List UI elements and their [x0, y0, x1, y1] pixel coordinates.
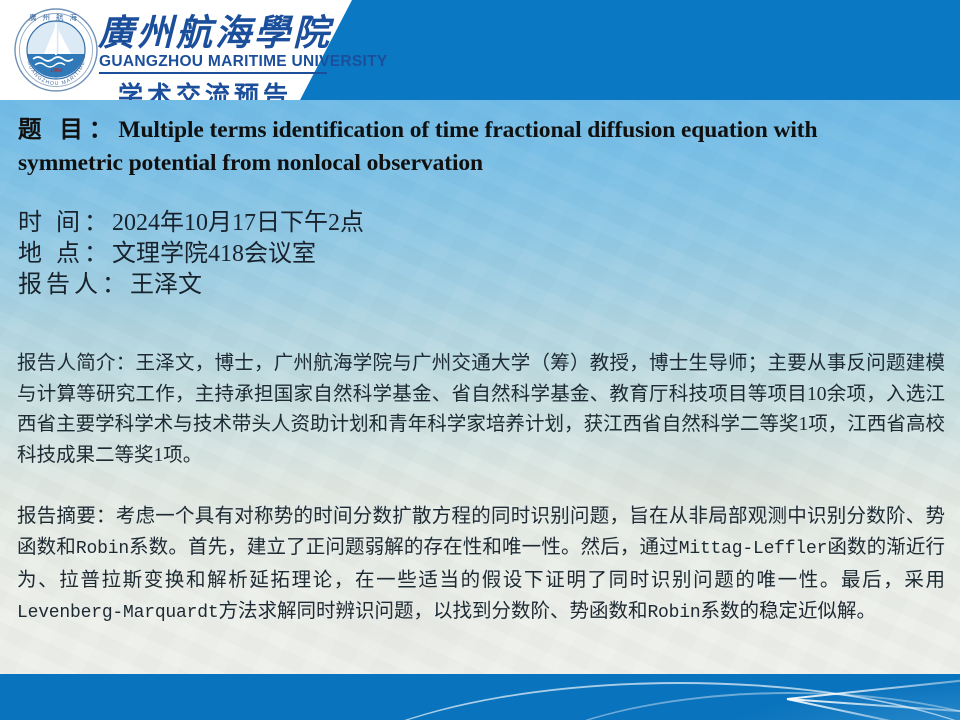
svg-text:1964: 1964: [50, 68, 62, 74]
abstract-term-robin-2: Robin: [647, 603, 700, 623]
speaker-bio-label: 报告人简介：: [17, 353, 136, 374]
poster-header: 1964 廣州航海 GUANGZHOU MARITIME UNIVERSITY …: [0, 0, 960, 100]
abstract-term-robin-1: Robin: [76, 539, 129, 559]
talk-title-label: 题 目：: [18, 117, 118, 143]
talk-time-value: 2024年10月17日下午2点: [112, 210, 364, 236]
talk-title-line-1: 题 目：Multiple terms identification of tim…: [18, 114, 943, 147]
abstract-label: 报告摘要：: [17, 506, 116, 527]
abstract-paragraph: 报告摘要：考虑一个具有对称势的时间分数扩散方程的同时识别问题，旨在从非局部观测中…: [17, 501, 945, 629]
abstract-seg-4: 方法求解同时辨识问题，以找到分数阶、势函数和: [218, 601, 647, 622]
abstract-seg-5: 系数的稳定近似解。: [700, 601, 876, 622]
talk-title-text-1: Multiple terms identification of time fr…: [118, 117, 817, 143]
svg-text:廣州航海: 廣州航海: [29, 12, 83, 22]
seminar-poster: 1964 廣州航海 GUANGZHOU MARITIME UNIVERSITY …: [0, 0, 960, 720]
header-subtitle: 学术交流预告: [118, 76, 292, 100]
talk-place-value: 文理学院418会议室: [112, 241, 316, 267]
talk-title-block: 题 目：Multiple terms identification of tim…: [18, 114, 943, 180]
talk-speaker-row: 报告人：王泽文: [18, 270, 364, 301]
speaker-bio-text: 王泽文，博士，广州航海学院与广州交通大学（筹）教授，博士生导师；主要从事反问题建…: [17, 353, 945, 466]
sunburst-horizon-icon: [440, 674, 960, 720]
header-divider: [99, 72, 327, 74]
talk-place-label: 地 点：: [18, 241, 112, 267]
talk-meta-block: 时 间：2024年10月17日下午2点 地 点：文理学院418会议室 报告人：王…: [18, 208, 364, 301]
poster-footer: [0, 674, 960, 720]
university-seal-sailboat-icon: 1964 廣州航海 GUANGZHOU MARITIME UNIVERSITY: [13, 6, 99, 94]
abstract-term-levenberg-marquardt: Levenberg-Marquardt: [17, 603, 218, 623]
abstract-term-mittag-leffler: Mittag-Leffler: [679, 539, 827, 559]
university-name-english: GUANGZHOU MARITIME UNIVERSITY: [99, 53, 388, 71]
poster-content: 题 目：Multiple terms identification of tim…: [0, 100, 960, 674]
talk-speaker-label: 报告人：: [18, 272, 130, 298]
speaker-bio-paragraph: 报告人简介：王泽文，博士，广州航海学院与广州交通大学（筹）教授，博士生导师；主要…: [17, 349, 945, 471]
talk-time-row: 时 间：2024年10月17日下午2点: [18, 208, 364, 239]
talk-time-label: 时 间：: [18, 210, 112, 236]
university-name-chinese: 廣州航海學院: [98, 4, 332, 56]
abstract-seg-2: 系数。首先，建立了正问题弱解的存在性和唯一性。然后，通过: [129, 537, 679, 558]
talk-place-row: 地 点：文理学院418会议室: [18, 239, 364, 270]
talk-speaker-value: 王泽文: [130, 272, 202, 298]
talk-title-line-2: symmetric potential from nonlocal observ…: [18, 147, 943, 180]
